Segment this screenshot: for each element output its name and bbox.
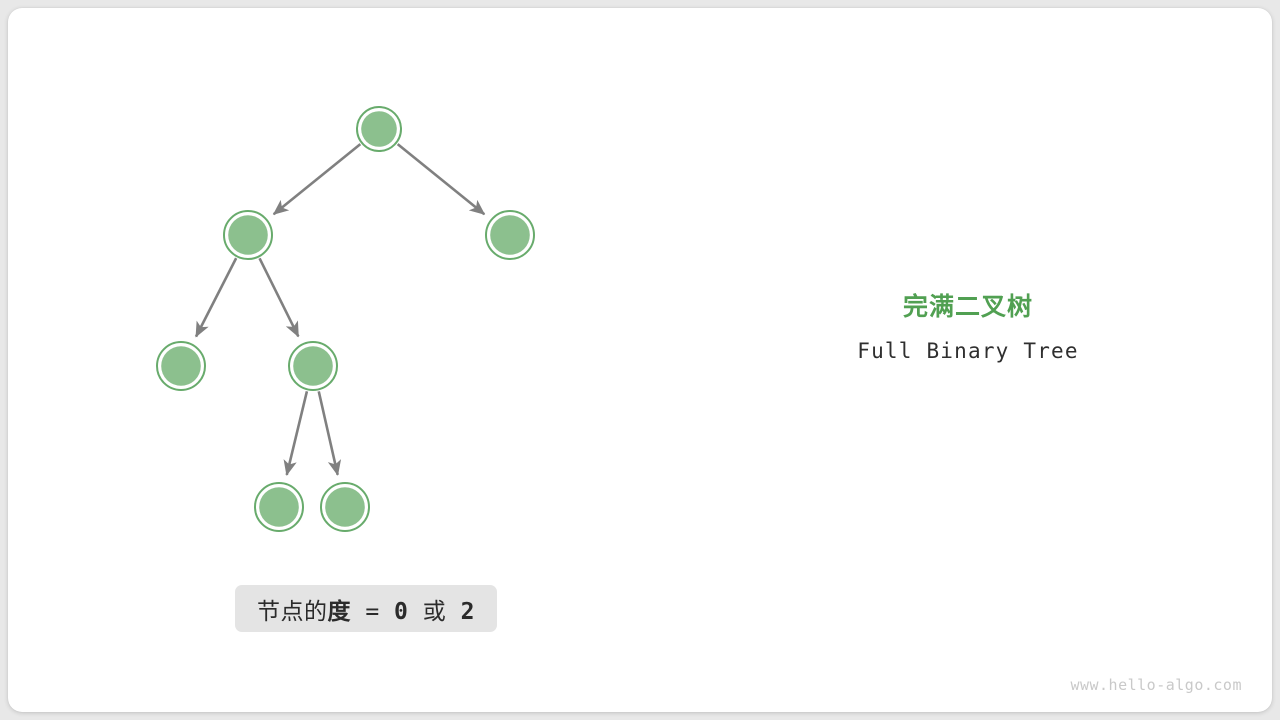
tree-node-fill (325, 487, 365, 527)
degree-conjunction: 或 (408, 599, 460, 625)
degree-prefix: 节点的 (257, 599, 328, 625)
degree-value-a: 0 (394, 599, 408, 625)
caption-subtitle: Full Binary Tree (768, 339, 1168, 363)
caption-block: 完满二叉树 Full Binary Tree (768, 292, 1168, 363)
tree-edge (260, 258, 299, 336)
tree-edge (319, 391, 338, 474)
tree-node-fill (293, 346, 333, 386)
degree-value-b: 2 (461, 599, 475, 625)
caption-title: 完满二叉树 (768, 292, 1168, 322)
tree-edge (398, 144, 485, 214)
degree-badge: 节点的度 = 0 或 2 (235, 585, 497, 632)
tree-node (321, 483, 369, 531)
tree-node-fill (228, 215, 268, 255)
tree-node-fill (361, 111, 397, 147)
tree-edge (274, 144, 361, 214)
tree-edge (196, 258, 236, 336)
tree-node (157, 342, 205, 390)
tree-edge-layer (196, 144, 484, 475)
tree-node-fill (161, 346, 201, 386)
tree-node (224, 211, 272, 259)
degree-badge-text: 节点的度 = 0 或 2 (257, 592, 475, 626)
tree-node-fill (490, 215, 530, 255)
degree-term: 度 (328, 599, 352, 625)
tree-node (357, 107, 401, 151)
watermark: www.hello-algo.com (1070, 676, 1242, 694)
figure-root: 完满二叉树 Full Binary Tree 节点的度 = 0 或 2 www.… (0, 0, 1280, 720)
tree-node (486, 211, 534, 259)
degree-equals: = (351, 599, 394, 625)
tree-node (255, 483, 303, 531)
tree-node-fill (259, 487, 299, 527)
tree-node-layer (157, 107, 534, 531)
tree-edge (287, 391, 307, 475)
tree-node (289, 342, 337, 390)
